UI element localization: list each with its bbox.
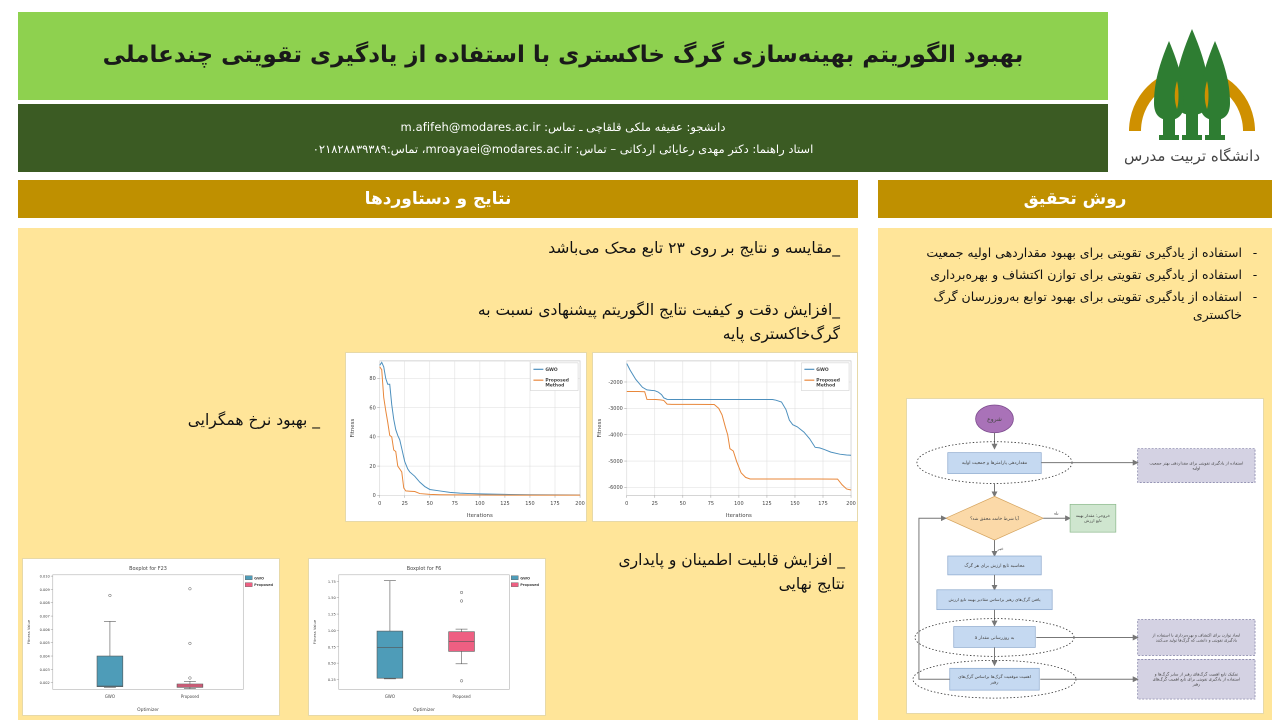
svg-text:GWO: GWO — [520, 576, 530, 580]
svg-text:GWO: GWO — [254, 576, 264, 580]
section-header-results-label: نتایج و دستاوردها — [365, 189, 512, 209]
svg-text:0.005: 0.005 — [40, 641, 50, 645]
svg-text:150: 150 — [525, 501, 534, 507]
svg-text:Optimizer: Optimizer — [413, 707, 435, 713]
svg-text:رهبر: رهبر — [990, 680, 999, 685]
svg-text:Proposed: Proposed — [254, 583, 273, 587]
method-bullet-1: - استفاده از یادگیری تقویتی برای بهبود م… — [892, 244, 1260, 263]
svg-text:اولیه: اولیه — [1192, 466, 1200, 471]
svg-text:1.50: 1.50 — [328, 596, 337, 600]
method-bullet-3-label: استفاده از یادگیری تقویتی برای بهبود توا… — [892, 288, 1242, 326]
svg-text:1.75: 1.75 — [328, 580, 336, 584]
svg-text:Proposed: Proposed — [520, 583, 539, 587]
tarbiat-modares-logo-icon: دانشگاه تربیت مدرس — [1117, 11, 1267, 173]
svg-text:Optimizer: Optimizer — [137, 707, 159, 713]
author-contact-bar: دانشجو: عفیفه ملکی قلقاچی ـ تماس: m.afif… — [18, 104, 1108, 172]
svg-text:125: 125 — [500, 501, 509, 507]
svg-text:Fitness Value: Fitness Value — [27, 619, 31, 644]
svg-text:مقداردهی پارامترها و جمعیت اول: مقداردهی پارامترها و جمعیت اولیه — [962, 461, 1028, 466]
svg-text:0.009: 0.009 — [40, 588, 50, 592]
student-contact-line: دانشجو: عفیفه ملکی قلقاچی ـ تماس: m.afif… — [401, 120, 726, 135]
svg-text:0.007: 0.007 — [40, 615, 50, 619]
svg-text:Boxplot for F6: Boxplot for F6 — [407, 566, 442, 572]
svg-text:0.008: 0.008 — [40, 601, 51, 605]
result-item-4: _ افزایش قابلیت اطمینان و پایداری نتایج … — [600, 548, 845, 596]
svg-text:100: 100 — [734, 501, 743, 507]
svg-text:Proposed: Proposed — [452, 694, 471, 699]
svg-text:Iterations: Iterations — [467, 513, 493, 519]
svg-text:60: 60 — [369, 405, 375, 411]
method-flowchart: شروعمقداردهی پارامترها و جمعیت اولیهاستف… — [906, 398, 1264, 714]
svg-text:50: 50 — [680, 501, 686, 507]
section-header-method-label: روش تحقیق — [1024, 189, 1127, 209]
svg-text:0.004: 0.004 — [40, 655, 51, 659]
svg-text:0.006: 0.006 — [40, 628, 51, 632]
svg-text:Boxplot for F23: Boxplot for F23 — [129, 566, 167, 572]
svg-text:-4000: -4000 — [608, 432, 622, 438]
method-bullet-1-label: استفاده از یادگیری تقویتی برای بهبود مقد… — [892, 244, 1242, 263]
svg-text:رهبر: رهبر — [1192, 682, 1201, 687]
result-item-2: _افزایش دقت و کیفیت نتایج الگوریتم پیشنه… — [430, 298, 840, 346]
svg-text:Iterations: Iterations — [726, 513, 752, 519]
result-item-3: _ بهبود نرخ همگرایی — [20, 408, 320, 432]
bullet-marker-icon: - — [1250, 244, 1260, 263]
svg-text:خیر: خیر — [996, 546, 1004, 551]
svg-text:200: 200 — [575, 501, 584, 507]
svg-text:تابع ارزش: تابع ارزش — [1084, 518, 1102, 523]
svg-text:1.00: 1.00 — [328, 629, 337, 633]
svg-text:0: 0 — [378, 501, 381, 507]
svg-text:GWO: GWO — [105, 694, 115, 699]
svg-text:40: 40 — [369, 435, 375, 441]
svg-text:-3000: -3000 — [608, 406, 622, 412]
page-title: بهبود الگوریتم بهینه‌سازی گرگ خاکستری با… — [103, 39, 1024, 72]
svg-text:1.25: 1.25 — [328, 613, 336, 617]
logo-caption-text: دانشگاه تربیت مدرس — [1124, 147, 1260, 165]
svg-text:0: 0 — [373, 493, 376, 499]
method-bullet-2: - استفاده از یادگیری تقویتی برای توازن ا… — [892, 266, 1260, 285]
svg-text:0.25: 0.25 — [328, 678, 336, 682]
boxplot-f23: Boxplot for F230.0020.0030.0040.0050.006… — [22, 558, 280, 716]
supervisor-contact-line: استاد راهنما: دکتر مهدی رعایائی اردکانی … — [313, 142, 814, 157]
svg-text:25: 25 — [402, 501, 408, 507]
poster-title-bar: بهبود الگوریتم بهینه‌سازی گرگ خاکستری با… — [18, 12, 1108, 100]
svg-text:Fitness: Fitness — [350, 419, 356, 438]
method-bullet-2-label: استفاده از یادگیری تقویتی برای توازن اکت… — [892, 266, 1242, 285]
poster-root: بهبود الگوریتم بهینه‌سازی گرگ خاکستری با… — [0, 0, 1280, 720]
convergence-chart-1: 0255075100125150175200020406080Iteration… — [345, 352, 587, 522]
svg-text:Fitness: Fitness — [597, 419, 603, 438]
svg-text:80: 80 — [369, 376, 375, 382]
svg-text:GWO: GWO — [545, 367, 558, 373]
university-logo: دانشگاه تربیت مدرس — [1112, 8, 1272, 176]
svg-text:175: 175 — [818, 501, 827, 507]
svg-text:Method: Method — [816, 383, 835, 389]
svg-text:75: 75 — [452, 501, 458, 507]
svg-text:100: 100 — [475, 501, 484, 507]
convergence-chart-2: 0255075100125150175200-6000-5000-4000-30… — [592, 352, 858, 522]
svg-text:-5000: -5000 — [608, 459, 622, 465]
svg-text:شروع: شروع — [987, 416, 1002, 423]
method-bullet-3: - استفاده از یادگیری تقویتی برای بهبود ت… — [892, 288, 1260, 326]
svg-text:یادگیری تقویتی و دانشی که گرگ‌: یادگیری تقویتی و دانشی که گرگ‌ها تولید م… — [1156, 636, 1237, 642]
svg-text:به روزرسانی مقدار a: به روزرسانی مقدار a — [975, 636, 1015, 641]
svg-text:0.010: 0.010 — [40, 575, 51, 579]
svg-text:0.002: 0.002 — [40, 681, 50, 685]
svg-text:-6000: -6000 — [608, 485, 622, 491]
svg-text:Fitness Value: Fitness Value — [313, 619, 317, 644]
boxplot-f6: Boxplot for F60.250.500.751.001.251.501.… — [308, 558, 546, 716]
svg-text:25: 25 — [652, 501, 658, 507]
result-item-1: _مقایسه و نتایج بر روی ۲۳ تابع محک می‌با… — [440, 236, 840, 260]
svg-text:یافتن گرگ‌های رهبر براساس مقاد: یافتن گرگ‌های رهبر براساس مقادیر بهینه ت… — [948, 596, 1041, 603]
section-header-results: نتایج و دستاوردها — [18, 180, 858, 218]
svg-text:GWO: GWO — [385, 694, 395, 699]
svg-text:Method: Method — [545, 383, 564, 389]
svg-text:GWO: GWO — [816, 367, 829, 373]
bullet-marker-icon: - — [1250, 288, 1260, 326]
svg-text:-2000: -2000 — [608, 380, 622, 386]
svg-text:20: 20 — [369, 464, 375, 470]
svg-text:125: 125 — [762, 501, 771, 507]
svg-text:50: 50 — [427, 501, 433, 507]
svg-text:150: 150 — [790, 501, 799, 507]
svg-text:بله: بله — [1054, 510, 1059, 515]
bullet-marker-icon: - — [1250, 266, 1260, 285]
svg-text:0.003: 0.003 — [40, 668, 50, 672]
svg-text:0: 0 — [625, 501, 628, 507]
svg-text:Proposed: Proposed — [181, 694, 200, 699]
svg-text:0.75: 0.75 — [328, 645, 336, 649]
svg-text:آیا شرط خاتمه محقق شد؟: آیا شرط خاتمه محقق شد؟ — [970, 516, 1020, 522]
svg-text:200: 200 — [846, 501, 855, 507]
svg-text:75: 75 — [708, 501, 714, 507]
svg-text:محاسبه تابع ارزش برای هر گرگ: محاسبه تابع ارزش برای هر گرگ — [964, 562, 1025, 569]
svg-text:اهمیت موقعیت گرگ‌ها براساس گرگ: اهمیت موقعیت گرگ‌ها براساس گرگ‌های — [958, 673, 1031, 680]
svg-text:175: 175 — [550, 501, 559, 507]
svg-text:0.50: 0.50 — [328, 662, 337, 666]
section-header-method: روش تحقیق — [878, 180, 1272, 218]
method-bullet-list: - استفاده از یادگیری تقویتی برای بهبود م… — [892, 244, 1260, 328]
